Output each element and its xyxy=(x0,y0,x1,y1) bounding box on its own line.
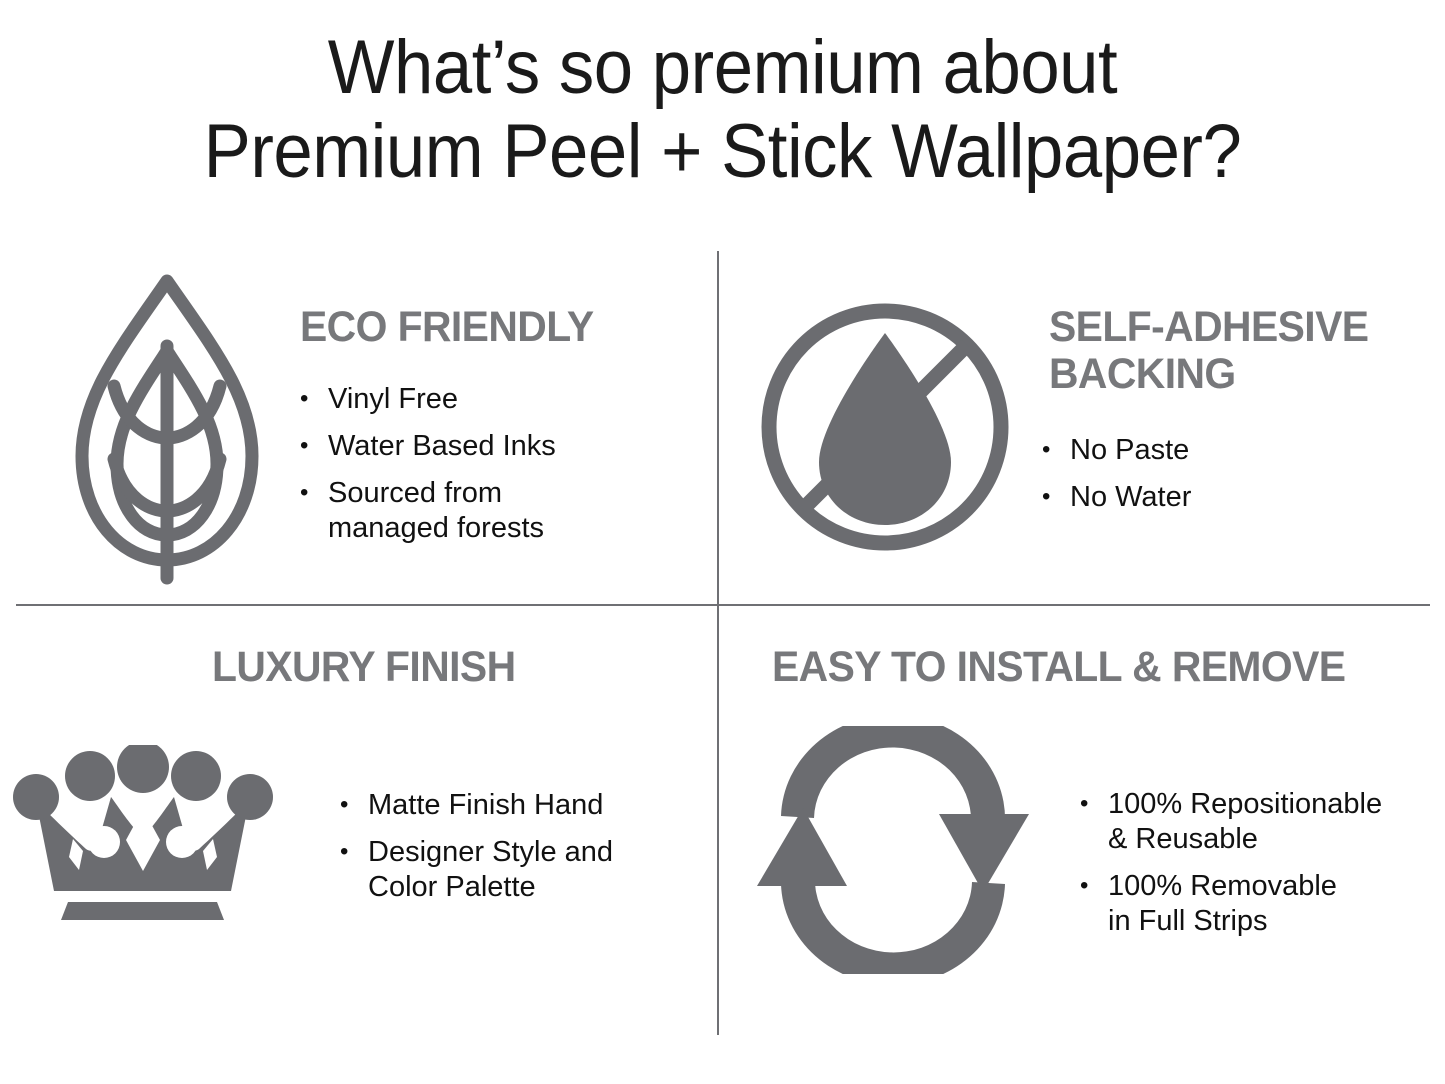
page-title-line-1: What’s so premium about xyxy=(51,26,1395,110)
easy-to-install-and-remove-bullet-list: 100% Repositionable & Reusable 100% Remo… xyxy=(1078,787,1428,951)
easy-to-install-and-remove-heading: EASY TO INSTALL & REMOVE xyxy=(772,644,1399,691)
self-adhesive-backing-bullet-list: No Paste No Water xyxy=(1040,433,1380,527)
luxury-finish-bullet-list: Matte Finish Hand Designer Style and Col… xyxy=(338,788,668,917)
vertical-divider xyxy=(717,251,719,1035)
page-title-line-2: Premium Peel + Stick Wallpaper? xyxy=(51,110,1395,194)
self-adhesive-backing-heading: SELF-ADHESIVE BACKING xyxy=(1049,304,1401,398)
list-item: No Paste xyxy=(1040,433,1380,468)
list-item: 100% Removable in Full Strips xyxy=(1078,869,1428,939)
list-item: 100% Repositionable & Reusable xyxy=(1078,787,1428,857)
crown-icon xyxy=(12,745,274,920)
list-item: Vinyl Free xyxy=(298,382,628,417)
recycle-arrows-icon xyxy=(757,726,1029,974)
eco-friendly-heading: ECO FRIENDLY xyxy=(300,304,680,351)
list-item: Matte Finish Hand xyxy=(338,788,668,823)
no-water-droplet-icon xyxy=(755,297,1015,557)
horizontal-divider xyxy=(16,604,1430,606)
eco-friendly-bullet-list: Vinyl Free Water Based Inks Sourced from… xyxy=(298,382,628,558)
list-item: Water Based Inks xyxy=(298,429,628,464)
list-item: Designer Style and Color Palette xyxy=(338,835,668,905)
leaf-icon xyxy=(62,268,272,586)
luxury-finish-heading: LUXURY FINISH xyxy=(212,644,611,691)
page-title: What’s so premium about Premium Peel + S… xyxy=(51,26,1395,194)
list-item: No Water xyxy=(1040,480,1380,515)
list-item: Sourced from managed forests xyxy=(298,476,628,546)
